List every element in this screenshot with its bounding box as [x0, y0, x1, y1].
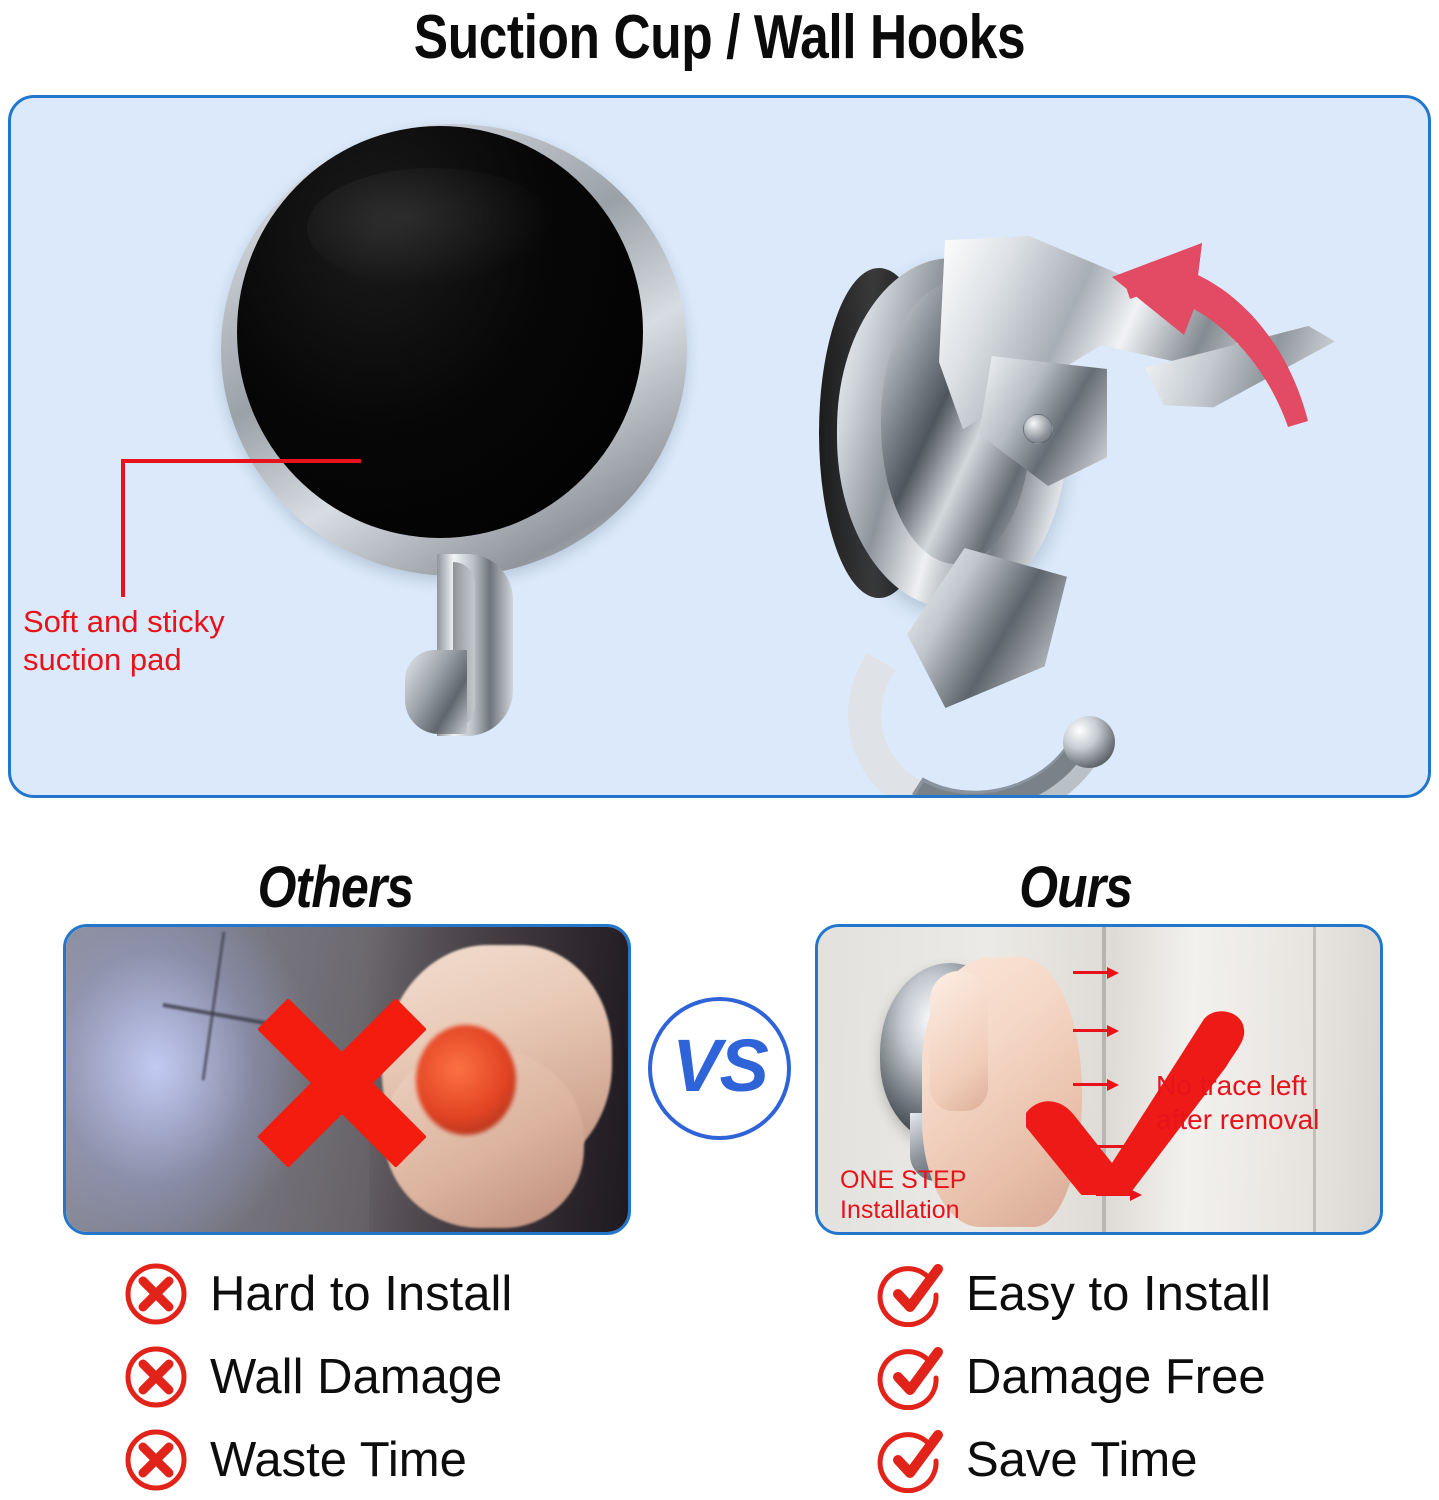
feature-label: Damage Free: [966, 1349, 1266, 1405]
list-item: Damage Free: [876, 1335, 1271, 1418]
feature-label: Wall Damage: [210, 1349, 502, 1405]
circle-cross-icon: [120, 1427, 192, 1493]
callout-leader-vertical: [121, 459, 125, 597]
hook-stem-front: [405, 554, 517, 744]
list-item: Wall Damage: [120, 1335, 512, 1418]
circle-check-icon: [876, 1261, 948, 1327]
no-trace-line-2: after removal: [1156, 1103, 1366, 1137]
vs-badge: VS: [648, 997, 791, 1140]
ours-feature-list: Easy to Install Damage Free Save Time: [876, 1252, 1271, 1500]
no-trace-note: No trace left after removal: [1156, 1069, 1366, 1137]
pad-highlight: [307, 168, 557, 288]
compare-heading-ours: Ours: [1019, 854, 1132, 921]
index-finger: [930, 971, 988, 1111]
cross-overlay-icon: [217, 955, 467, 1205]
callout-leader-horizontal: [121, 459, 361, 463]
others-photo-panel: [63, 924, 631, 1235]
ours-photo-panel: No trace left after removal ONE STEP Ins…: [815, 924, 1383, 1235]
infographic-page: Suction Cup / Wall Hooks: [0, 0, 1439, 1500]
feature-label: Easy to Install: [966, 1266, 1271, 1322]
no-trace-line-1: No trace left: [1156, 1069, 1366, 1103]
list-item: Waste Time: [120, 1418, 512, 1500]
hook-tip-ball: [1063, 716, 1115, 768]
page-title: Suction Cup / Wall Hooks: [122, 2, 1316, 73]
one-step-line-1: ONE STEP: [840, 1165, 1020, 1195]
feature-label: Waste Time: [210, 1432, 467, 1488]
feature-label: Hard to Install: [210, 1266, 512, 1322]
callout-line-2: suction pad: [23, 641, 323, 679]
circle-check-icon: [876, 1427, 948, 1493]
list-item: Save Time: [876, 1418, 1271, 1500]
list-item: Hard to Install: [120, 1252, 512, 1335]
callout-line-1: Soft and sticky: [23, 603, 323, 641]
suction-pad-black: [237, 126, 643, 538]
feature-label: Save Time: [966, 1432, 1197, 1488]
lever-motion-arrow-icon: [1026, 231, 1316, 431]
hero-panel: Soft and sticky suction pad: [8, 95, 1431, 798]
circle-cross-icon: [120, 1344, 192, 1410]
others-feature-list: Hard to Install Wall Damage Waste Time: [120, 1252, 512, 1500]
circle-cross-icon: [120, 1261, 192, 1327]
one-step-line-2: Installation: [840, 1195, 1020, 1225]
suction-pad-callout: Soft and sticky suction pad: [23, 603, 323, 679]
circle-check-icon: [876, 1344, 948, 1410]
vs-label: VS: [672, 1029, 767, 1103]
product-front-view: [207, 106, 707, 796]
one-step-note: ONE STEP Installation: [840, 1165, 1020, 1225]
list-item: Easy to Install: [876, 1252, 1271, 1335]
compare-heading-others: Others: [258, 854, 414, 921]
mini-arrow-icon-1: [1073, 967, 1119, 979]
